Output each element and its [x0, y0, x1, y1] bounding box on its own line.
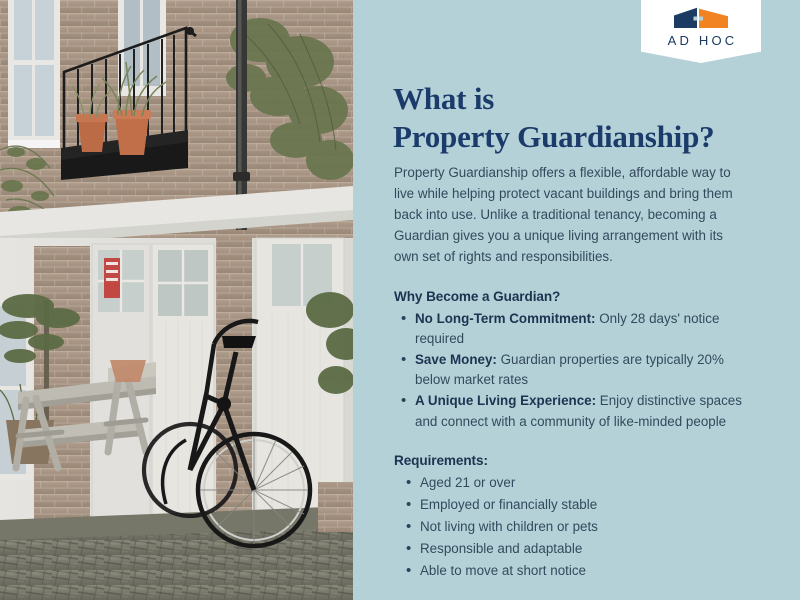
why-become-guardian-section: Why Become a Guardian? No Long-Term Comm…	[394, 289, 746, 433]
list-item: A Unique Living Experience: Enjoy distin…	[394, 391, 746, 431]
list-item: Responsible and adaptable	[394, 539, 746, 559]
ad-hoc-logo-badge[interactable]: AD HOC	[641, 0, 761, 63]
list-item: No Long-Term Commitment: Only 28 days' n…	[394, 309, 746, 349]
page-title-line-1: What is	[393, 80, 783, 118]
list-item: Not living with children or pets	[394, 517, 746, 537]
property-photo	[0, 0, 353, 600]
why-benefits-list: No Long-Term Commitment: Only 28 days' n…	[394, 309, 746, 432]
requirements-section-title: Requirements:	[394, 453, 746, 468]
logo-wordmark: AD HOC	[665, 33, 738, 48]
benefit-lead: Save Money:	[415, 352, 497, 367]
page-title: What is Property Guardianship?	[393, 80, 783, 156]
list-item: Employed or financially stable	[394, 495, 746, 515]
requirements-section: Requirements: Aged 21 or over Employed o…	[394, 453, 746, 584]
benefit-lead: No Long-Term Commitment:	[415, 311, 596, 326]
poster: AD HOC What is Property Guardianship? Pr…	[0, 0, 800, 600]
page-title-line-2: Property Guardianship?	[393, 118, 783, 156]
content-panel: AD HOC What is Property Guardianship? Pr…	[353, 0, 800, 600]
why-section-title: Why Become a Guardian?	[394, 289, 746, 304]
ad-hoc-house-mark	[673, 7, 729, 29]
photo-illustration	[0, 0, 353, 600]
list-item: Aged 21 or over	[394, 473, 746, 493]
list-item: Able to move at short notice	[394, 561, 746, 581]
requirements-list: Aged 21 or over Employed or financially …	[394, 473, 746, 582]
intro-paragraph: Property Guardianship offers a flexible,…	[394, 163, 739, 268]
list-item: Save Money: Guardian properties are typi…	[394, 350, 746, 390]
benefit-lead: A Unique Living Experience:	[415, 393, 596, 408]
